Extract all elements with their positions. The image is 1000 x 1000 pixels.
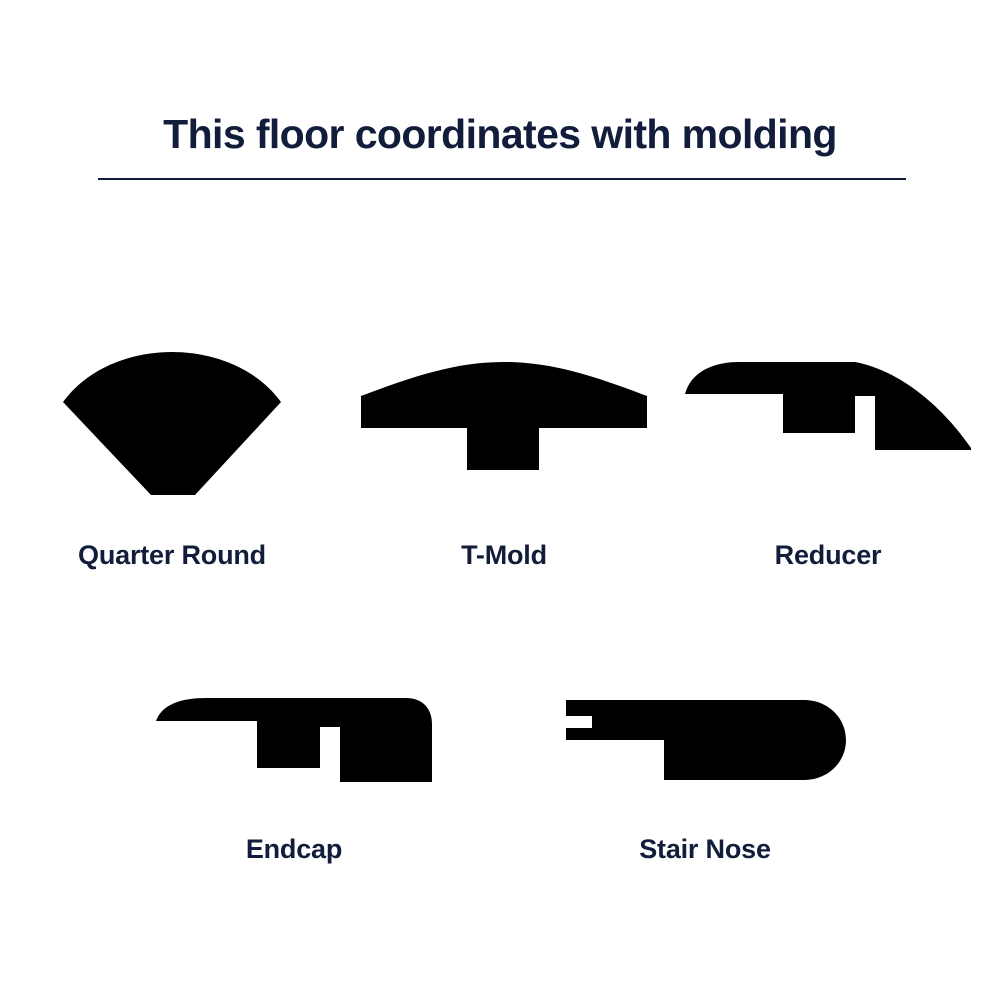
reducer-icon <box>683 350 973 500</box>
t-mold-icon <box>359 350 649 500</box>
molding-options-panel: This floor coordinates with molding Quar… <box>0 0 1000 1000</box>
stair-nose-icon <box>560 690 850 790</box>
molding-item-quarter-round[interactable]: Quarter Round <box>12 350 332 571</box>
figure-reducer <box>668 350 988 500</box>
molding-item-stair-nose[interactable]: Stair Nose <box>545 690 865 865</box>
molding-label-stair-nose: Stair Nose <box>545 834 865 865</box>
molding-label-reducer: Reducer <box>668 540 988 571</box>
figure-t-mold <box>344 350 664 500</box>
figure-stair-nose <box>545 690 865 790</box>
molding-grid: Quarter Round T-Mold Reducer <box>0 0 1000 1000</box>
figure-quarter-round <box>12 350 332 500</box>
molding-label-quarter-round: Quarter Round <box>12 540 332 571</box>
molding-item-endcap[interactable]: Endcap <box>134 690 454 865</box>
molding-item-reducer[interactable]: Reducer <box>668 350 988 571</box>
molding-label-t-mold: T-Mold <box>344 540 664 571</box>
molding-item-t-mold[interactable]: T-Mold <box>344 350 664 571</box>
quarter-round-icon <box>47 350 297 500</box>
endcap-icon <box>154 690 434 790</box>
figure-endcap <box>134 690 454 790</box>
molding-label-endcap: Endcap <box>134 834 454 865</box>
